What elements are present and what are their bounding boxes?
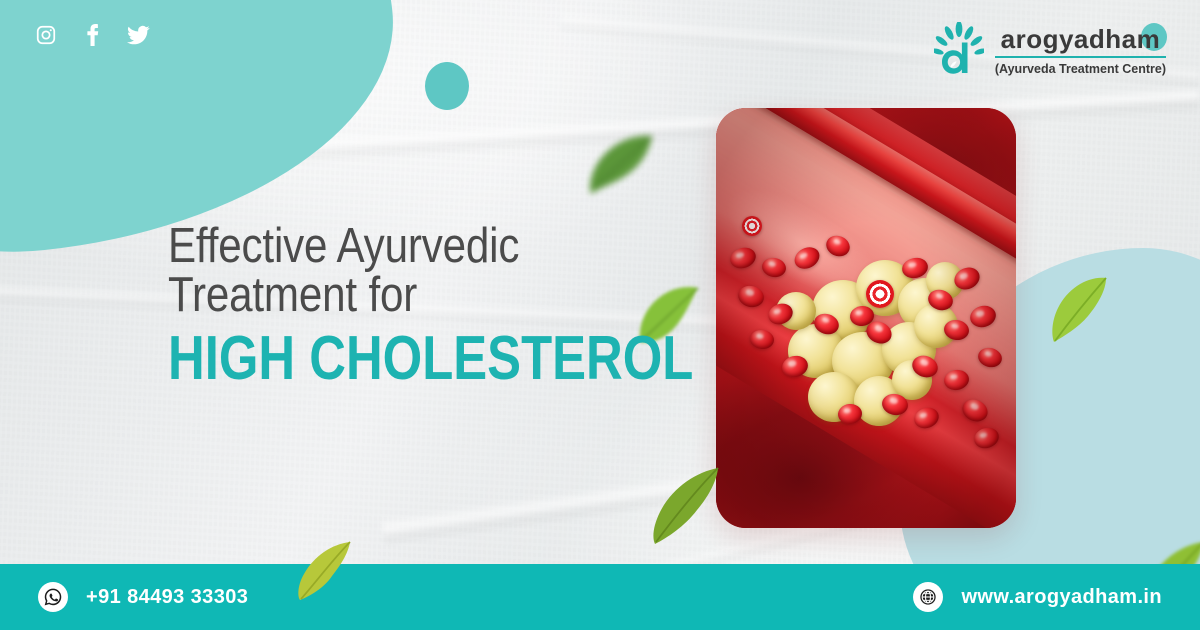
headline-emphasis: HIGH CHOLESTEROL [168,327,611,390]
phone-number[interactable]: +91 84493 33303 [86,586,248,609]
vessel-illustration [716,108,1016,528]
ayurveda-leaf-a-icon [934,22,984,80]
headline-block: Effective Ayurvedic Treatment for HIGH C… [168,222,708,390]
contact-footer: +91 84493 33303 www.arogyadham.in [0,564,1200,630]
teal-circle-icon [425,62,469,110]
website-url[interactable]: www.arogyadham.in [961,586,1162,609]
website-contact[interactable]: www.arogyadham.in [913,582,1162,612]
artery-cross-section-image [716,108,1016,528]
phone-contact[interactable]: +91 84493 33303 [38,582,248,612]
twitter-icon[interactable] [126,22,150,48]
brand-name: arogyadham [995,26,1166,58]
social-links [34,22,150,48]
instagram-icon[interactable] [34,22,58,48]
green-leaf-icon [648,466,724,546]
headline-line-2: Treatment for [168,271,632,320]
brand-logo-text: arogyadham (Ayurveda Treatment Centre) [995,26,1166,76]
whatsapp-icon[interactable] [38,582,68,612]
brand-tagline: (Ayurveda Treatment Centre) [995,58,1166,76]
green-leaf-icon [586,132,656,198]
headline-line-1: Effective Ayurvedic [168,222,632,271]
green-leaf-icon [296,540,356,602]
brand-logo[interactable]: arogyadham (Ayurveda Treatment Centre) [934,22,1166,80]
promo-banner: arogyadham (Ayurveda Treatment Centre) [0,0,1200,630]
globe-icon[interactable] [913,582,943,612]
green-leaf-icon [1048,272,1114,346]
facebook-icon[interactable] [80,22,104,48]
